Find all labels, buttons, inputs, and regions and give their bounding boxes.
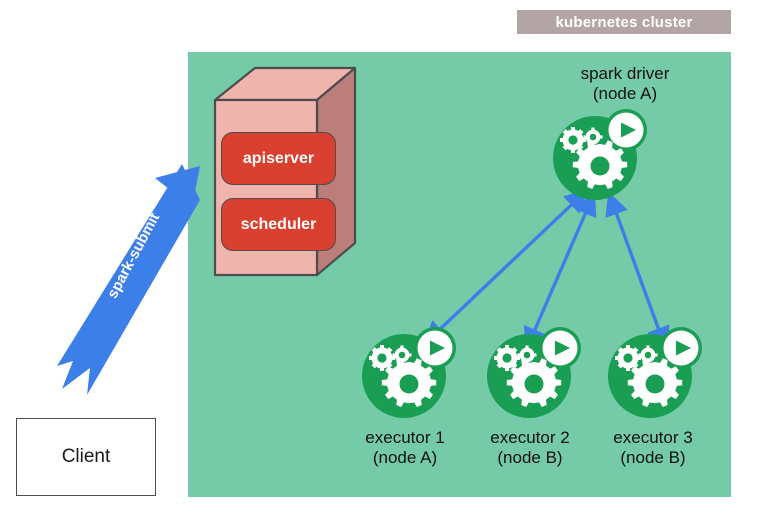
executor-3-name: executor 3 (578, 428, 728, 448)
spark-driver-label: spark driver (node A) (520, 64, 730, 104)
scheduler-component[interactable]: scheduler (221, 198, 336, 251)
apiserver-label: apiserver (243, 150, 314, 168)
executor-2-icon[interactable] (484, 326, 584, 418)
client-box[interactable]: Client (16, 418, 156, 496)
scheduler-label: scheduler (241, 216, 317, 234)
spark-driver-node: (node A) (520, 84, 730, 104)
spark-driver-icon[interactable] (550, 108, 650, 200)
executor-1-icon[interactable] (359, 326, 459, 418)
kubernetes-cluster-badge-label: kubernetes cluster (556, 14, 693, 31)
kubernetes-cluster-badge: kubernetes cluster (517, 10, 731, 34)
apiserver-component[interactable]: apiserver (221, 132, 336, 185)
executor-3-icon[interactable] (605, 326, 705, 418)
executor-3-label: executor 3 (node B) (578, 428, 728, 468)
diagram-canvas: kubernetes cluster spark-submit apiserve… (0, 0, 761, 516)
executor-3-node: (node B) (578, 448, 728, 468)
spark-driver-name: spark driver (520, 64, 730, 84)
client-label: Client (62, 446, 111, 468)
